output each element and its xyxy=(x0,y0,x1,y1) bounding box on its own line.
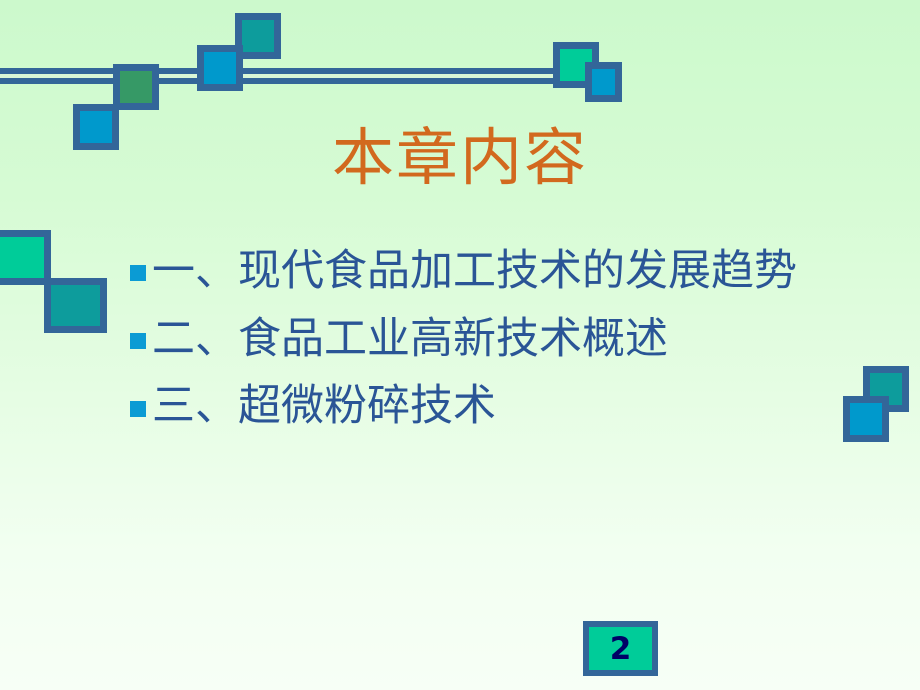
page-number-badge: 2 xyxy=(583,621,658,676)
bullet-item-3-label: 三、超微粉碎技术 xyxy=(152,381,496,432)
left-teal-square xyxy=(44,278,107,333)
bullet-item-3[interactable]: 三、超微粉碎技术 xyxy=(130,381,890,432)
bullet-item-2[interactable]: 二、食品工业高新技术概述 xyxy=(130,314,890,365)
top-blue-square xyxy=(197,45,243,91)
bullet-list: 一、现代食品加工技术的发展趋势 二、食品工业高新技术概述 三、超微粉碎技术 xyxy=(130,246,890,449)
square-bullet-icon xyxy=(130,333,146,349)
bullet-item-1-label: 一、现代食品加工技术的发展趋势 xyxy=(152,246,797,297)
bullet-item-1[interactable]: 一、现代食品加工技术的发展趋势 xyxy=(130,246,890,297)
left-mint-square xyxy=(0,230,51,285)
decorative-rule-bottom-line xyxy=(0,78,613,84)
right-blue-square xyxy=(585,62,622,102)
square-bullet-icon xyxy=(130,401,146,417)
top-green-square xyxy=(113,64,159,110)
bullet-item-2-label: 二、食品工业高新技术概述 xyxy=(152,314,668,365)
slide-title: 本章内容 xyxy=(0,124,920,192)
square-bullet-icon xyxy=(130,265,146,281)
slide-canvas: 本章内容 一、现代食品加工技术的发展趋势 二、食品工业高新技术概述 三、超微粉碎… xyxy=(0,0,920,690)
